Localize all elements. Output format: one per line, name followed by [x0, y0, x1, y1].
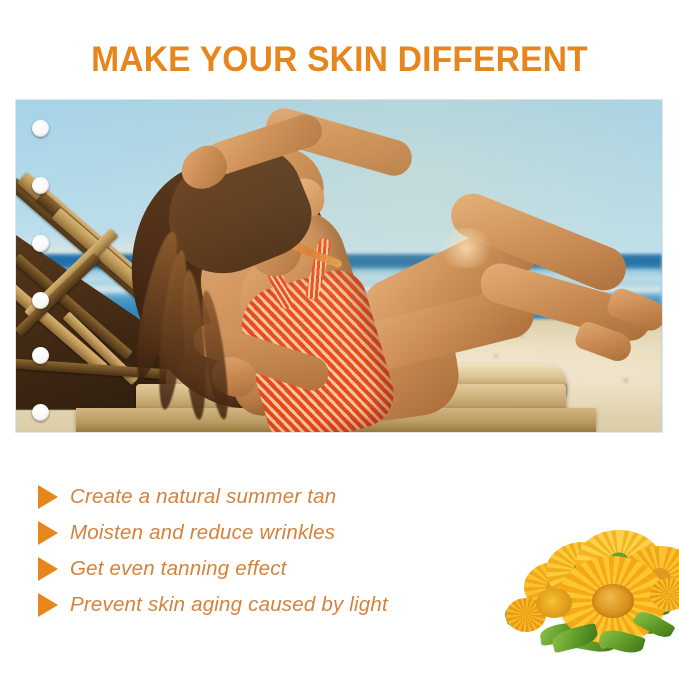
punch-hole	[32, 292, 49, 309]
calendula-flowers-graphic	[500, 528, 675, 658]
list-item: Prevent skin aging caused by light	[38, 587, 508, 623]
page-title: MAKE YOUR SKIN DIFFERENT	[14, 40, 666, 80]
model-figure	[16, 100, 662, 432]
punch-hole	[32, 177, 49, 194]
punch-hole	[32, 404, 49, 421]
arrow-right-icon	[38, 521, 58, 545]
list-item: Get even tanning effect	[38, 551, 508, 587]
punch-hole	[32, 120, 49, 137]
knee-highlight	[436, 228, 496, 268]
arrow-right-icon	[38, 485, 58, 509]
arrow-right-icon	[38, 593, 58, 617]
list-item: Moisten and reduce wrinkles	[38, 515, 508, 551]
flower-bud-mid	[536, 588, 572, 618]
list-item: Create a natural summer tan	[38, 479, 508, 515]
list-item-label: Get even tanning effect	[70, 557, 287, 581]
list-item-label: Moisten and reduce wrinkles	[70, 521, 335, 545]
benefits-list: Create a natural summer tan Moisten and …	[38, 479, 508, 623]
punch-hole	[32, 347, 49, 364]
flower-main-center	[592, 584, 634, 618]
arrow-right-icon	[38, 557, 58, 581]
list-item-label: Prevent skin aging caused by light	[70, 593, 388, 617]
list-item-label: Create a natural summer tan	[70, 485, 336, 509]
hero-photo	[16, 100, 662, 432]
punch-hole	[32, 235, 49, 252]
